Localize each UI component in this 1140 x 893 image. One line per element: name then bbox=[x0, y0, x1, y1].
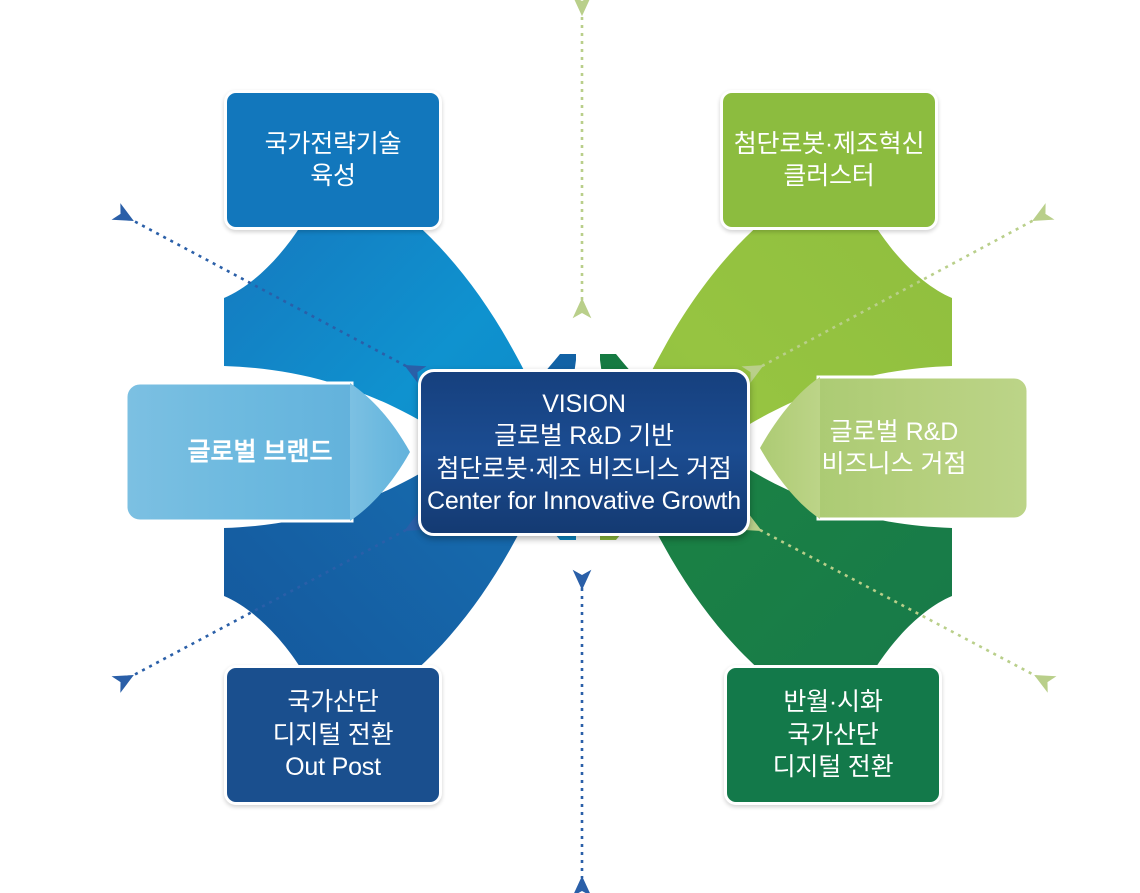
vision-line-2: 글로벌 R&D 기반 bbox=[494, 420, 674, 453]
vision-line-1: VISION bbox=[542, 388, 626, 421]
node-advanced-robot-cluster[interactable]: 첨단로봇·제조혁신 클러스터 bbox=[720, 90, 938, 230]
diagram-canvas: 국가전략기술 육성 첨단로봇·제조혁신 클러스터 국가산단 디지털 전환 Out… bbox=[0, 0, 1140, 893]
node-banwol-sihwa-digital-transition[interactable]: 반월·시화 국가산단 디지털 전환 bbox=[724, 665, 942, 805]
node-label: 국가전략기술 육성 bbox=[265, 128, 402, 193]
node-label: 첨단로봇·제조혁신 클러스터 bbox=[734, 128, 925, 193]
node-label: 국가산단 디지털 전환 Out Post bbox=[273, 686, 394, 784]
side-card-left-shape bbox=[126, 383, 410, 521]
vision-core-card[interactable]: VISION 글로벌 R&D 기반 첨단로봇·제조 비즈니스 거점 Center… bbox=[418, 369, 750, 536]
vision-line-4: Center for Innovative Growth bbox=[427, 485, 741, 518]
node-national-complex-digital-outpost[interactable]: 국가산단 디지털 전환 Out Post bbox=[224, 665, 442, 805]
node-label: 반월·시화 국가산단 디지털 전환 bbox=[773, 686, 894, 784]
side-card-right-shape bbox=[760, 377, 1028, 519]
vision-line-3: 첨단로봇·제조 비즈니스 거점 bbox=[436, 453, 731, 486]
node-national-strategic-tech[interactable]: 국가전략기술 육성 bbox=[224, 90, 442, 230]
